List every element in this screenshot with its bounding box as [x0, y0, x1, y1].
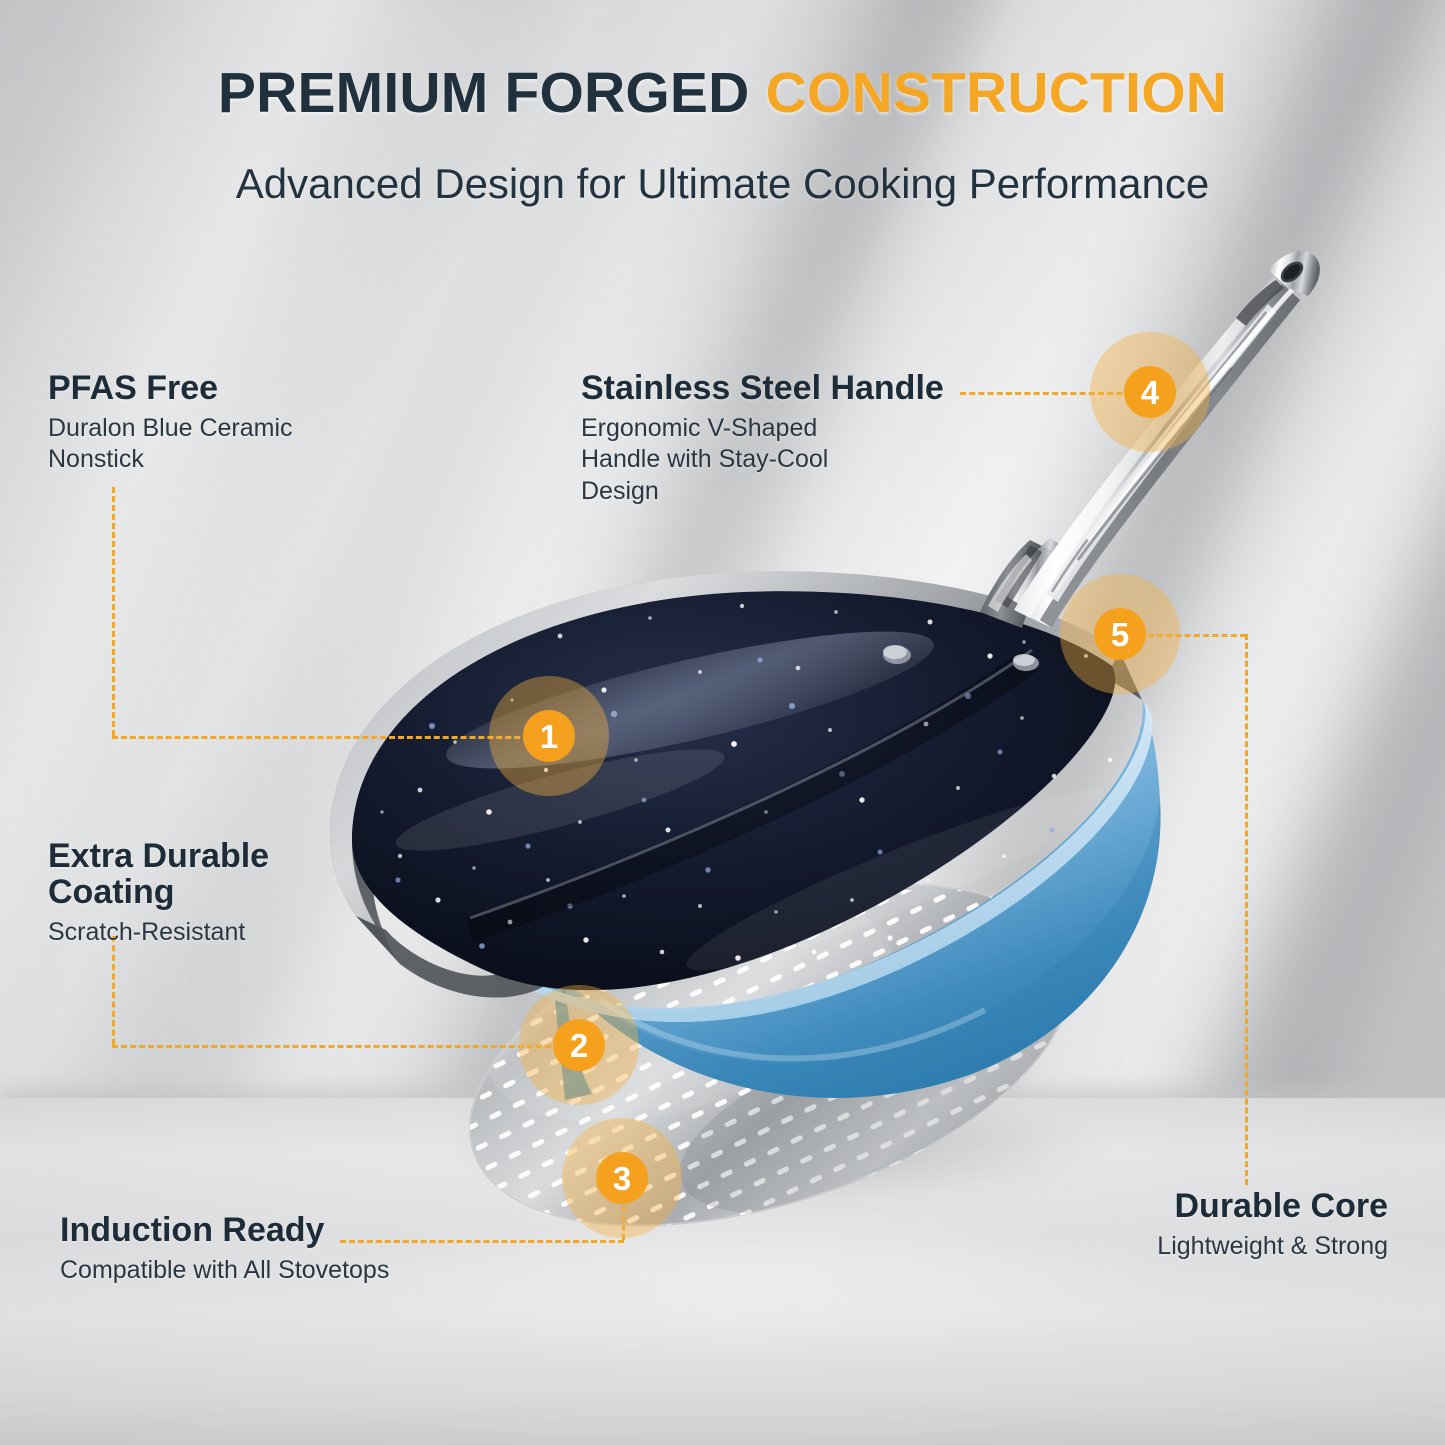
feature-subtitle-durable-core: Lightweight & Strong	[1000, 1231, 1388, 1262]
feature-subtitle-extra-durable-coating: Scratch-Resistant	[48, 917, 388, 948]
feature-title-durable-core: Durable Core	[1000, 1188, 1388, 1224]
feature-subtitle-induction-ready: Compatible with All Stovetops	[60, 1255, 480, 1286]
feature-label-pfas-free[interactable]: PFAS Free Duralon Blue Ceramic Nonstick	[48, 370, 378, 476]
stainless-steel-handle	[980, 251, 1320, 628]
feature-label-induction-ready[interactable]: Induction Ready Compatible with All Stov…	[60, 1212, 480, 1286]
feature-title-extra-durable-coating: Extra Durable Coating	[48, 838, 388, 910]
infographic-canvas: PREMIUM FORGED CONSTRUCTION Advanced Des…	[0, 0, 1445, 1445]
feature-title-induction-ready: Induction Ready	[60, 1212, 480, 1248]
hotspot-badge-3[interactable]: 3	[596, 1152, 648, 1204]
feature-label-extra-durable-coating[interactable]: Extra Durable Coating Scratch-Resistant	[48, 838, 388, 948]
feature-subtitle-pfas-free: Duralon Blue Ceramic Nonstick	[48, 413, 378, 476]
hotspot-badge-1[interactable]: 1	[523, 710, 575, 762]
feature-title-stainless-steel-handle: Stainless Steel Handle	[581, 370, 981, 406]
hotspot-badge-2[interactable]: 2	[553, 1019, 605, 1071]
hotspot-badge-5[interactable]: 5	[1094, 608, 1146, 660]
feature-title-pfas-free: PFAS Free	[48, 370, 378, 406]
feature-subtitle-stainless-steel-handle: Ergonomic V-Shaped Handle with Stay-Cool…	[581, 413, 981, 507]
feature-label-durable-core[interactable]: Durable Core Lightweight & Strong	[1000, 1188, 1388, 1262]
feature-label-stainless-steel-handle[interactable]: Stainless Steel Handle Ergonomic V-Shape…	[581, 370, 981, 507]
hotspot-badge-4[interactable]: 4	[1124, 366, 1176, 418]
